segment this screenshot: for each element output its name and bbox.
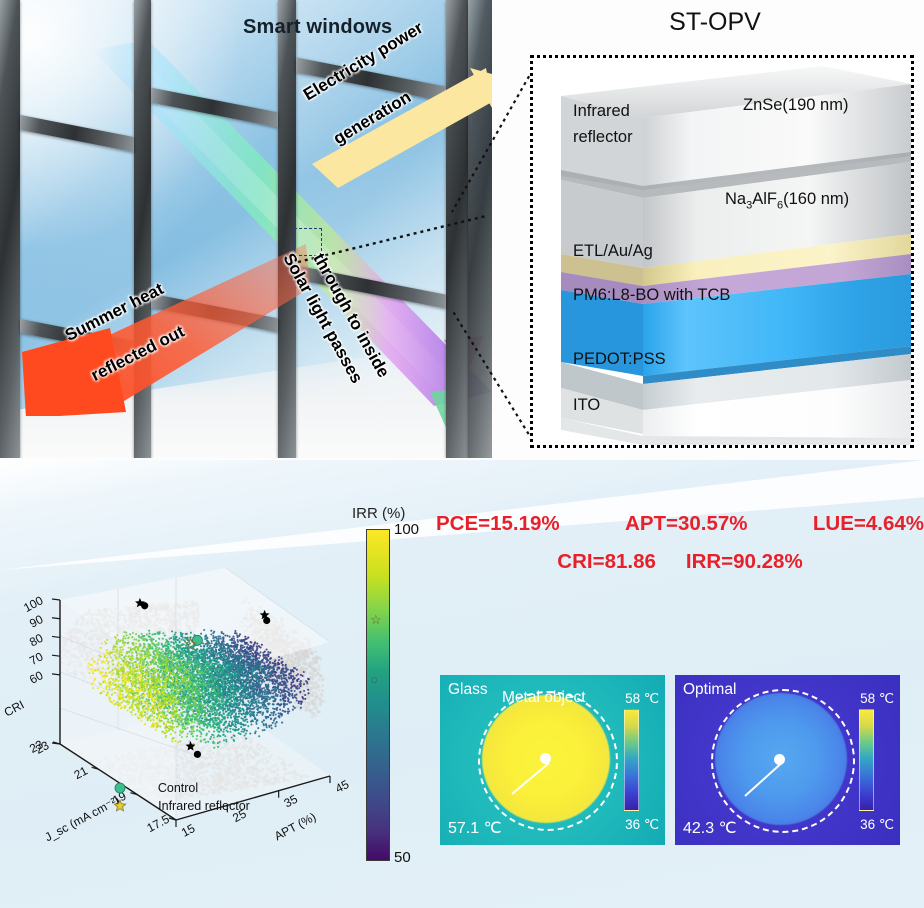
smart-window-illustration: Smart windows Electricity power generati… bbox=[0, 0, 492, 458]
smart-windows-label: Smart windows bbox=[243, 16, 392, 39]
thermal-temperature: 42.3 ℃ bbox=[683, 818, 737, 838]
metric-cri: CRI=81.86 bbox=[557, 550, 656, 574]
colorbar-title: IRR (%) bbox=[352, 505, 405, 522]
zoom-leader-lines bbox=[446, 60, 542, 460]
metrics-summary: PCE=15.19% APT=30.57% LUE=4.64% CRI=81.8… bbox=[436, 512, 924, 574]
thermal-cb-low: 36 ℃ bbox=[625, 817, 659, 833]
thermal-colorbar bbox=[624, 709, 639, 811]
figure-root: Smart windows Electricity power generati… bbox=[0, 0, 924, 908]
layer-label-pm6: PM6:L8-BO with TCB bbox=[573, 286, 730, 305]
colorbar-min-label: 50 bbox=[394, 849, 411, 866]
thermal-panel-label: Optimal bbox=[683, 681, 736, 699]
layer-label-ito: ITO bbox=[573, 396, 600, 415]
layer-label-etl: ETL/Au/Ag bbox=[573, 242, 653, 261]
zoom-region-box bbox=[294, 228, 322, 256]
thermal-temperature: 57.1 ℃ bbox=[448, 818, 502, 838]
colorbar-group: IRR (%) 100 50 ☆ ○ bbox=[352, 505, 438, 875]
colorbar-circle-marker: ○ bbox=[370, 673, 378, 686]
thermal-image-glass: Glass Metal object 57.1 ℃ 58 ℃ 36 ℃ bbox=[440, 675, 665, 845]
thermal-object-label: Metal object bbox=[502, 689, 586, 707]
thermal-cb-high: 58 ℃ bbox=[625, 691, 659, 707]
metric-lue: LUE=4.64% bbox=[813, 512, 924, 536]
thermal-measure-point bbox=[540, 753, 551, 764]
thermal-measure-point bbox=[774, 754, 785, 765]
stopv-stack-diagram: ZnSe(190 nm) Infrared reflector Na3AlF6(… bbox=[530, 55, 914, 448]
metric-pce: PCE=15.19% bbox=[436, 512, 560, 536]
layer-label-na3alf6: Na3AlF6(160 nm) bbox=[725, 190, 849, 211]
colorbar-max-label: 100 bbox=[394, 521, 419, 538]
layer-label-pedot: PEDOT:PSS bbox=[573, 350, 666, 369]
bottom-panel: 23211917.5152535452360708090100 CRIJ_sc … bbox=[0, 460, 924, 908]
thermal-cb-low: 36 ℃ bbox=[860, 817, 894, 833]
stopv-title: ST-OPV bbox=[520, 8, 910, 37]
thermal-cb-high: 58 ℃ bbox=[860, 691, 894, 707]
thermal-panel-label: Glass bbox=[448, 681, 488, 699]
heat-reflected-arrow bbox=[10, 236, 310, 416]
metric-irr: IRR=90.28% bbox=[686, 550, 803, 574]
layer-label-ir-2: reflector bbox=[573, 128, 633, 147]
layer-label-ir-1: Infrared bbox=[573, 102, 630, 121]
colorbar-star-marker: ☆ bbox=[370, 613, 382, 626]
scatter-3d-chart: 23211917.5152535452360708090100 CRIJ_sc … bbox=[0, 490, 350, 890]
thermal-colorbar bbox=[859, 709, 874, 811]
colorbar-gradient bbox=[366, 529, 390, 861]
layer-label-znse: ZnSe(190 nm) bbox=[743, 96, 848, 115]
thermal-image-optimal: Optimal 42.3 ℃ 58 ℃ 36 ℃ bbox=[675, 675, 900, 845]
top-panel: Smart windows Electricity power generati… bbox=[0, 0, 924, 460]
metric-apt: APT=30.57% bbox=[625, 512, 748, 536]
